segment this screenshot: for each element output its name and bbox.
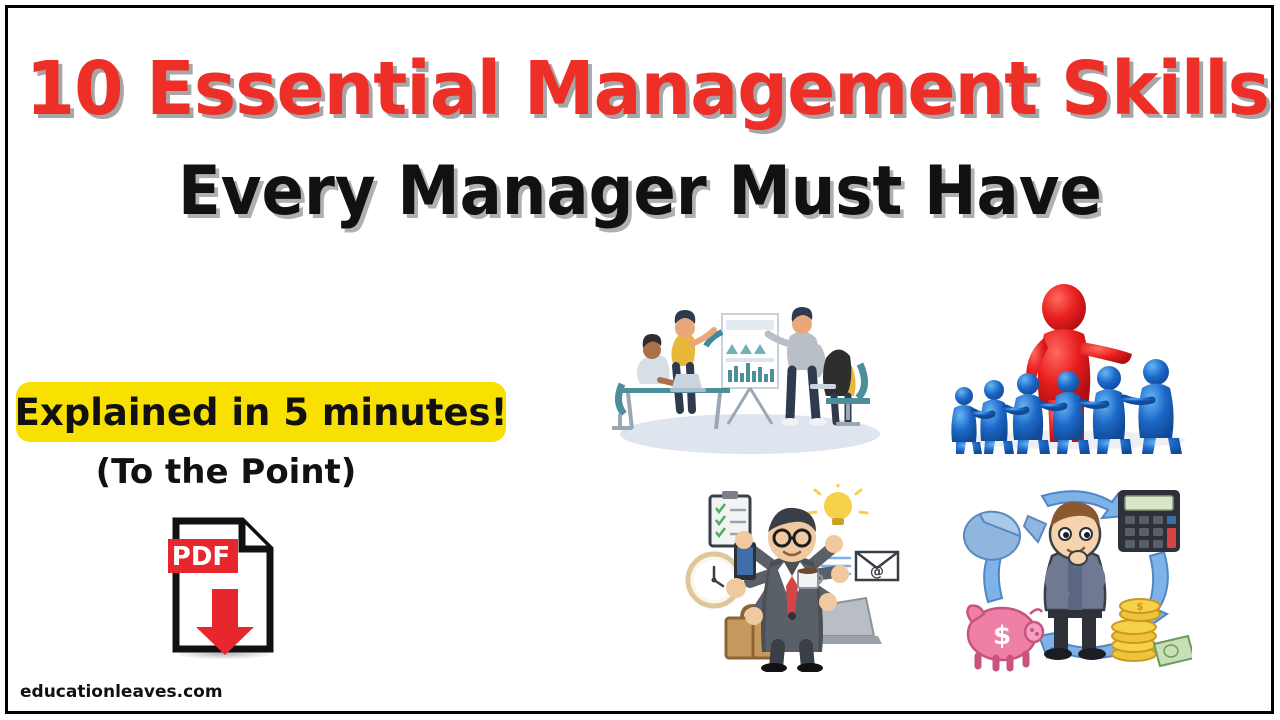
page-subtitle: Every Manager Must Have [51, 158, 1229, 226]
site-watermark: educationleaves.com [20, 682, 223, 702]
piggybank-dollar-symbol: $ [993, 621, 1011, 651]
subnote-label: (To the Point) [16, 452, 436, 492]
pdf-download-icon[interactable]: PDF [168, 515, 278, 655]
page-title: 10 Essential Management Skills [26, 52, 1255, 126]
highlight-badge-label: Explained in 5 minutes! [15, 391, 508, 434]
highlight-badge: Explained in 5 minutes! [16, 382, 506, 442]
email-at-symbol: @ [870, 564, 884, 580]
illustration-multitasking-businessman: @ [678, 484, 906, 672]
coin-dollar-symbol: $ [1136, 600, 1144, 613]
title-block: 10 Essential Management Skills [0, 52, 1280, 126]
slide-canvas: 10 Essential Management Skills Every Man… [0, 0, 1280, 720]
illustration-leadership [944, 282, 1198, 454]
illustration-financial-planning-cycle: $ $ [958, 482, 1192, 672]
illustration-team-meeting [604, 288, 884, 458]
pdf-badge-text: PDF [172, 542, 230, 572]
